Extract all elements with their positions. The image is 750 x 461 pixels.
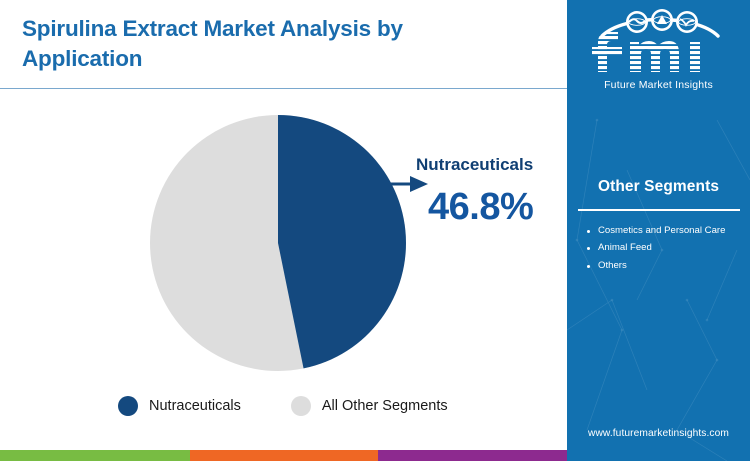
legend-label: All Other Segments bbox=[322, 398, 448, 414]
bottom-color-bar bbox=[0, 450, 567, 461]
legend-label: Nutraceuticals bbox=[149, 398, 241, 414]
globe-icon bbox=[626, 11, 648, 33]
callout-segment-name: Nutraceuticals bbox=[416, 155, 533, 175]
globe-icon bbox=[676, 11, 698, 33]
callout-segment-value: 46.8% bbox=[428, 186, 533, 229]
list-item: Cosmetics and Personal Care bbox=[585, 224, 743, 238]
website-url[interactable]: www.futuremarketinsights.com bbox=[567, 428, 750, 439]
pie-chart bbox=[148, 113, 408, 373]
bar-segment-green bbox=[0, 450, 190, 461]
legend-swatch-icon bbox=[118, 396, 138, 416]
other-segments-heading: Other Segments bbox=[567, 178, 750, 196]
other-segments-list: Cosmetics and Personal Care Animal Feed … bbox=[585, 224, 743, 276]
globe-icon bbox=[651, 9, 673, 31]
chart-legend: Nutraceuticals All Other Segments bbox=[118, 396, 448, 416]
legend-item-all-other-segments[interactable]: All Other Segments bbox=[291, 396, 448, 416]
pie-chart-svg bbox=[148, 113, 408, 373]
pie-slice-nutraceuticals bbox=[278, 115, 406, 368]
page-title: Spirulina Extract Market Analysis by App… bbox=[22, 14, 522, 73]
fmi-logo-tagline: Future Market Insights bbox=[567, 79, 750, 91]
fmi-logo-mark-icon bbox=[584, 6, 734, 78]
fmi-logo[interactable]: Future Market Insights bbox=[567, 6, 750, 91]
bar-segment-purple bbox=[378, 450, 567, 461]
header-divider bbox=[0, 88, 567, 89]
list-item: Animal Feed bbox=[585, 241, 743, 255]
legend-item-nutraceuticals[interactable]: Nutraceuticals bbox=[118, 396, 241, 416]
legend-swatch-icon bbox=[291, 396, 311, 416]
other-segments-divider bbox=[578, 209, 740, 211]
list-item: Others bbox=[585, 259, 743, 273]
side-panel: Future Market Insights Other Segments Co… bbox=[567, 0, 750, 461]
infographic-canvas: Spirulina Extract Market Analysis by App… bbox=[0, 0, 750, 461]
bar-segment-orange bbox=[190, 450, 378, 461]
